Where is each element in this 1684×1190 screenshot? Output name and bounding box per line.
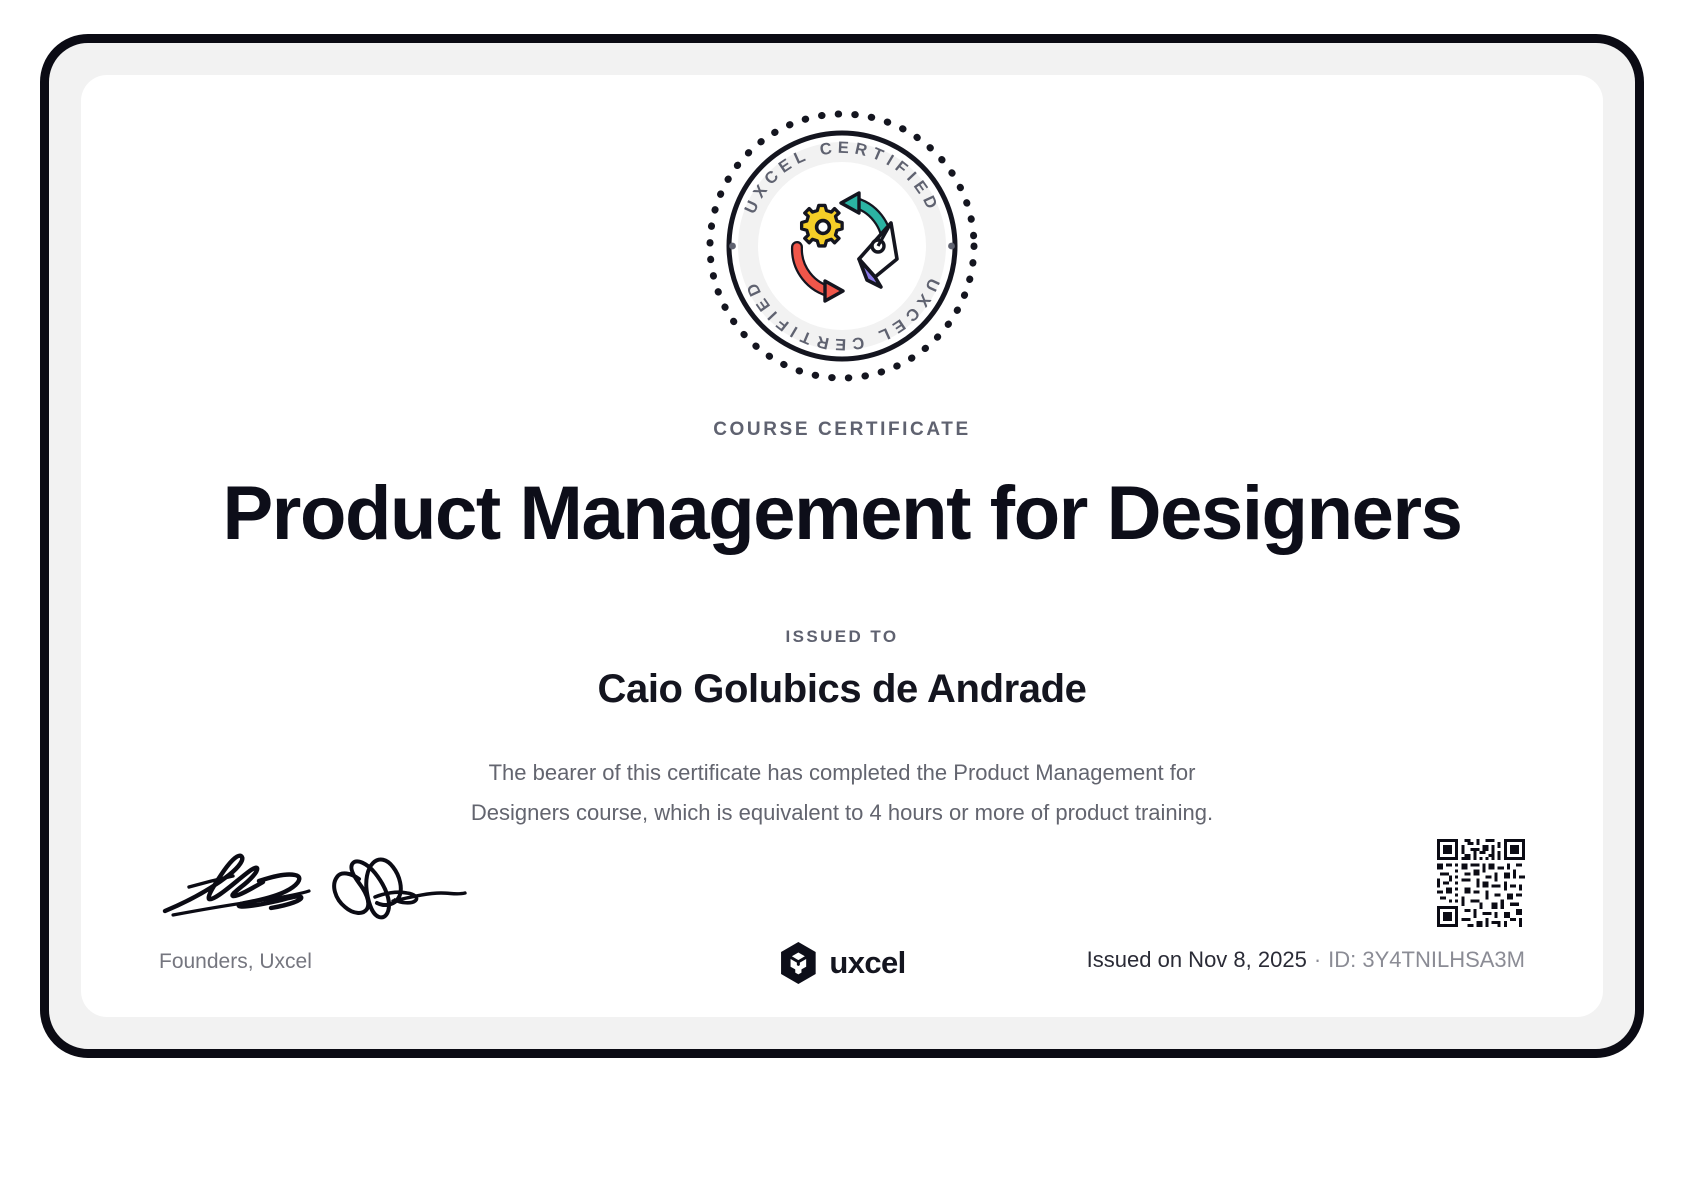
meta-separator: · [1307,947,1328,972]
issued-to-label: ISSUED TO [81,627,1603,647]
issued-date: Issued on Nov 8, 2025 [1087,947,1307,972]
certificate-meta: Issued on Nov 8, 2025·ID: 3Y4TNILHSA3M [1087,947,1525,973]
certificate-description: The bearer of this certificate has compl… [452,753,1232,833]
founder-signatures [159,835,479,935]
verification-qr-code[interactable] [1437,839,1525,927]
uxcel-certified-seal: UXCEL CERTIFIED UXCEL CERTIFIED [701,105,983,387]
uxcel-brand-lockup: uxcel [778,941,905,985]
description-line-1: The bearer of this certificate has compl… [452,753,1232,793]
description-line-2: Designers course, which is equivalent to… [452,793,1232,833]
certificate-type-label: COURSE CERTIFICATE [81,419,1603,441]
certificate-frame: UXCEL CERTIFIED UXCEL CERTIFIED [40,34,1644,1058]
founders-label: Founders, Uxcel [159,950,312,974]
uxcel-hexagon-logo-icon [778,941,818,985]
uxcel-wordmark: uxcel [829,945,905,981]
course-title: Product Management for Designers [81,471,1603,557]
certificate-card: UXCEL CERTIFIED UXCEL CERTIFIED [81,75,1603,1017]
recipient-name: Caio Golubics de Andrade [81,667,1603,712]
certificate-id: ID: 3Y4TNILHSA3M [1328,947,1525,972]
